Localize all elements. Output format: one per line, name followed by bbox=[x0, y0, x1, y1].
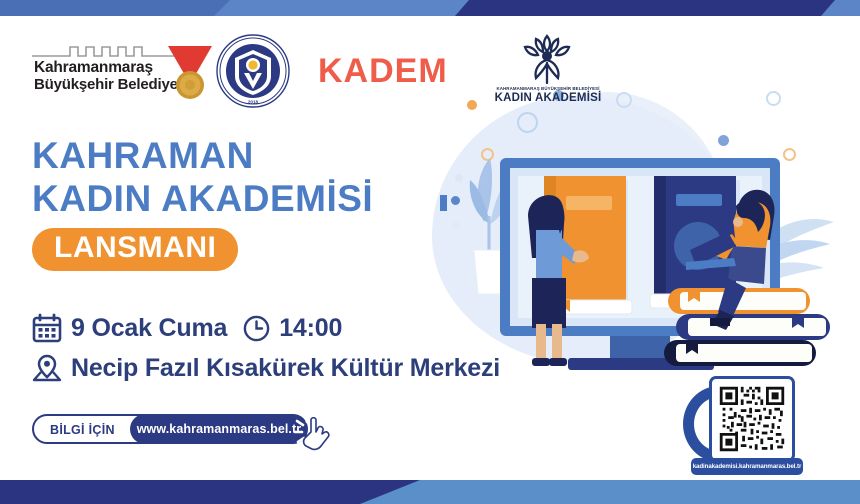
logo-kahramanmaras-belediyesi: Kahramanmaraş Büyükşehir Belediyesi bbox=[32, 40, 207, 102]
bottom-bar-dark-segment bbox=[0, 480, 420, 504]
headline-block: KAHRAMAN KADIN AKADEMİSİ LANSMANI bbox=[32, 134, 462, 271]
headline-line-2: KADIN AKADEMİSİ bbox=[32, 177, 462, 220]
logo-kadin-sub-small: KAHRAMANMARAŞ BÜYÜKŞEHİR BELEDİYESİ bbox=[488, 86, 608, 91]
top-decor-bar bbox=[0, 0, 860, 16]
castle-battlement-icon bbox=[32, 42, 182, 58]
medal-triangle-icon bbox=[164, 40, 216, 102]
logo-kadin-akademisi: KAHRAMANMARAŞ BÜYÜKŞEHİR BELEDİYESİ KADI… bbox=[488, 30, 608, 110]
event-time-text: 14:00 bbox=[279, 314, 342, 343]
logo-kadem: KADEM bbox=[318, 52, 448, 91]
headline-badge-lansmani: LANSMANI bbox=[32, 228, 238, 271]
event-date-text: 9 Ocak Cuma bbox=[71, 314, 227, 343]
event-venue-row: Necip Fazıl Kısakürek Kültür Merkezi bbox=[32, 350, 482, 386]
logo-row: Kahramanmaraş Büyükşehir Belediyesi 2018… bbox=[0, 30, 860, 110]
logo-municipality-line1: Kahramanmaraş bbox=[34, 59, 153, 77]
website-url-pill[interactable]: www.kahramanmaras.bel.tr bbox=[130, 414, 308, 444]
event-info-block: 9 Ocak Cuma 14:00 Necip Fazıl Kısakürek … bbox=[32, 310, 482, 386]
book-stack bbox=[664, 288, 830, 366]
map-pin-icon bbox=[32, 353, 62, 383]
logo-istiklal-universitesi: 2018 bbox=[216, 34, 290, 108]
poster-canvas: Kahramanmaraş Büyükşehir Belediyesi 2018… bbox=[0, 0, 860, 504]
info-cta-label: BİLGİ İÇİN bbox=[50, 423, 115, 437]
website-url-text: www.kahramanmaras.bel.tr bbox=[137, 422, 302, 436]
info-cta-pill[interactable]: BİLGİ İÇİN www.kahramanmaras.bel.tr bbox=[32, 414, 304, 444]
calendar-icon bbox=[32, 313, 62, 343]
illustration-woman-monitor-books bbox=[432, 118, 852, 376]
logo-kadin-sub-main: KADIN AKADEMİSİ bbox=[488, 92, 608, 104]
clock-icon bbox=[243, 315, 270, 342]
qr-code-icon[interactable] bbox=[717, 384, 787, 454]
qr-block[interactable]: kadinakademisi.kahramanmaras.bel.tr bbox=[683, 376, 803, 480]
woman-flower-icon bbox=[514, 30, 580, 86]
bottom-decor-bar bbox=[0, 480, 860, 504]
headline-line-1: KAHRAMAN bbox=[32, 134, 462, 177]
event-venue-text: Necip Fazıl Kısakürek Kültür Merkezi bbox=[71, 354, 500, 383]
click-hand-icon bbox=[289, 410, 337, 452]
qr-card[interactable] bbox=[709, 376, 795, 462]
top-bar-dark-segment bbox=[455, 0, 835, 16]
qr-url-label: kadinakademisi.kahramanmaras.bel.tr bbox=[691, 458, 803, 475]
top-bar-mid-segment bbox=[0, 0, 230, 16]
event-date-time-row: 9 Ocak Cuma 14:00 bbox=[32, 310, 482, 346]
university-year: 2018 bbox=[248, 100, 259, 105]
